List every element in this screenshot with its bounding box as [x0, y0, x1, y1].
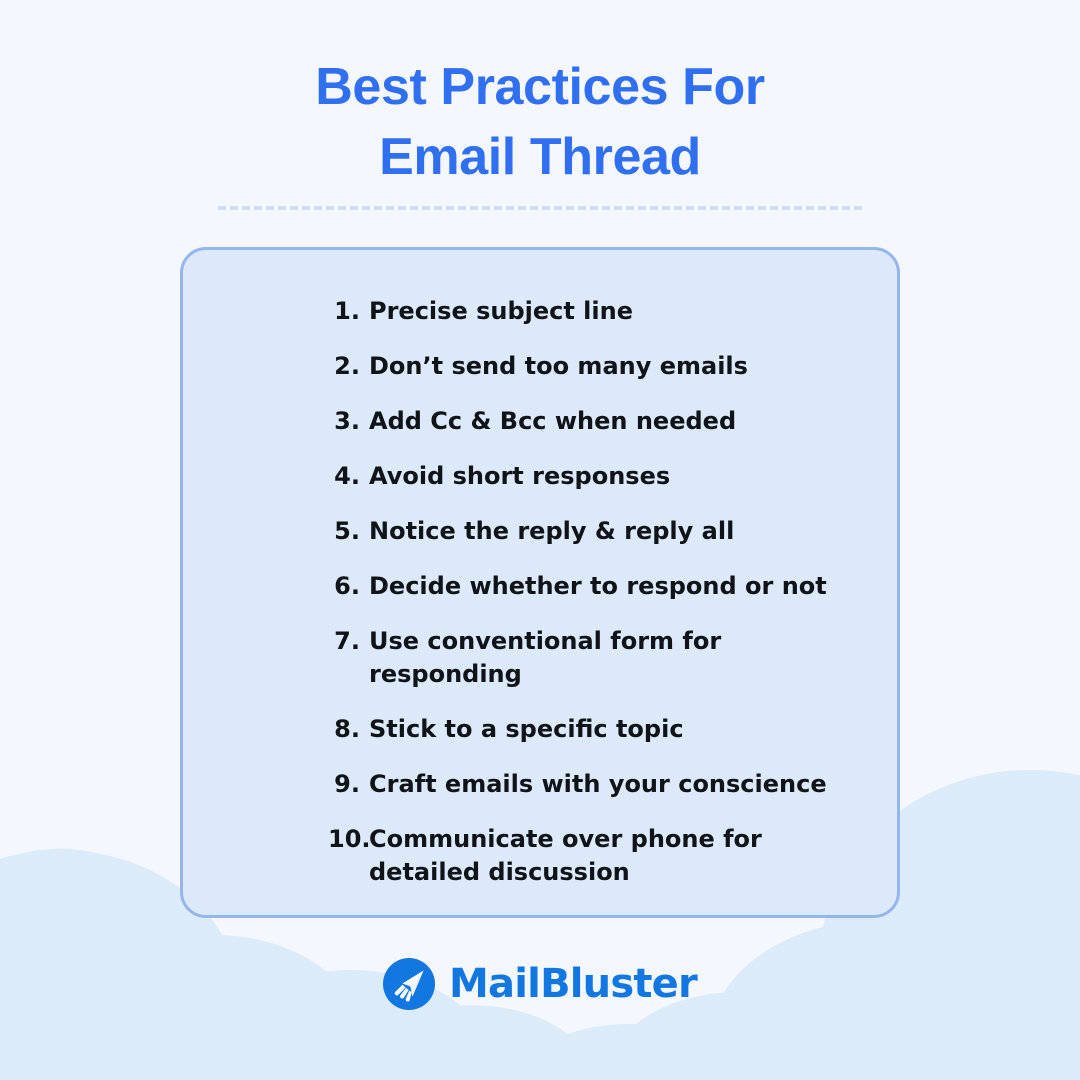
list-item-number: 7.: [328, 625, 360, 658]
list-item-text: Communicate over phone for detailed disc…: [369, 823, 879, 889]
list-item-number: 6.: [328, 570, 360, 603]
list-item-text: Craft emails with your conscience: [369, 768, 879, 801]
title-line-2: Email Thread: [0, 122, 1080, 192]
list-item: 3. Add Cc & Bcc when needed: [183, 405, 903, 438]
list-item-text: Notice the reply & reply all: [369, 515, 879, 548]
list-item-number: 4.: [328, 460, 360, 493]
practices-list: 1. Precise subject line 2. Don’t send to…: [183, 295, 903, 889]
list-item: 10. Communicate over phone for detailed …: [183, 823, 903, 889]
list-item-text: Don’t send too many emails: [369, 350, 879, 383]
list-item-text: Add Cc & Bcc when needed: [369, 405, 879, 438]
brand-logo: MailBluster: [0, 958, 1080, 1010]
list-item-text: Stick to a specific topic: [369, 713, 879, 746]
page-title: Best Practices For Email Thread: [0, 52, 1080, 192]
list-item-text: Precise subject line: [369, 295, 879, 328]
list-item: 8. Stick to a specific topic: [183, 713, 903, 746]
list-item: 5. Notice the reply & reply all: [183, 515, 903, 548]
list-item: 9. Craft emails with your conscience: [183, 768, 903, 801]
list-item: 6. Decide whether to respond or not: [183, 570, 903, 603]
list-item-number: 2.: [328, 350, 360, 383]
list-item-number: 5.: [328, 515, 360, 548]
list-item-text: Avoid short responses: [369, 460, 879, 493]
list-item-text: Decide whether to respond or not: [369, 570, 879, 603]
practices-card: 1. Precise subject line 2. Don’t send to…: [180, 247, 900, 918]
list-item-number: 10.: [328, 823, 360, 856]
dashed-divider: [218, 206, 862, 210]
infographic-page: Best Practices For Email Thread 1. Preci…: [0, 0, 1080, 1080]
list-item: 4. Avoid short responses: [183, 460, 903, 493]
list-item: 7. Use conventional form for responding: [183, 625, 903, 691]
list-item-number: 8.: [328, 713, 360, 746]
list-item-number: 9.: [328, 768, 360, 801]
brand-name: MailBluster: [449, 958, 697, 1010]
list-item-number: 3.: [328, 405, 360, 438]
list-item-number: 1.: [328, 295, 360, 328]
list-item-text: Use conventional form for responding: [369, 625, 879, 691]
list-item: 2. Don’t send too many emails: [183, 350, 903, 383]
title-line-1: Best Practices For: [0, 52, 1080, 122]
list-item: 1. Precise subject line: [183, 295, 903, 328]
paper-plane-circle-icon: [383, 958, 435, 1010]
